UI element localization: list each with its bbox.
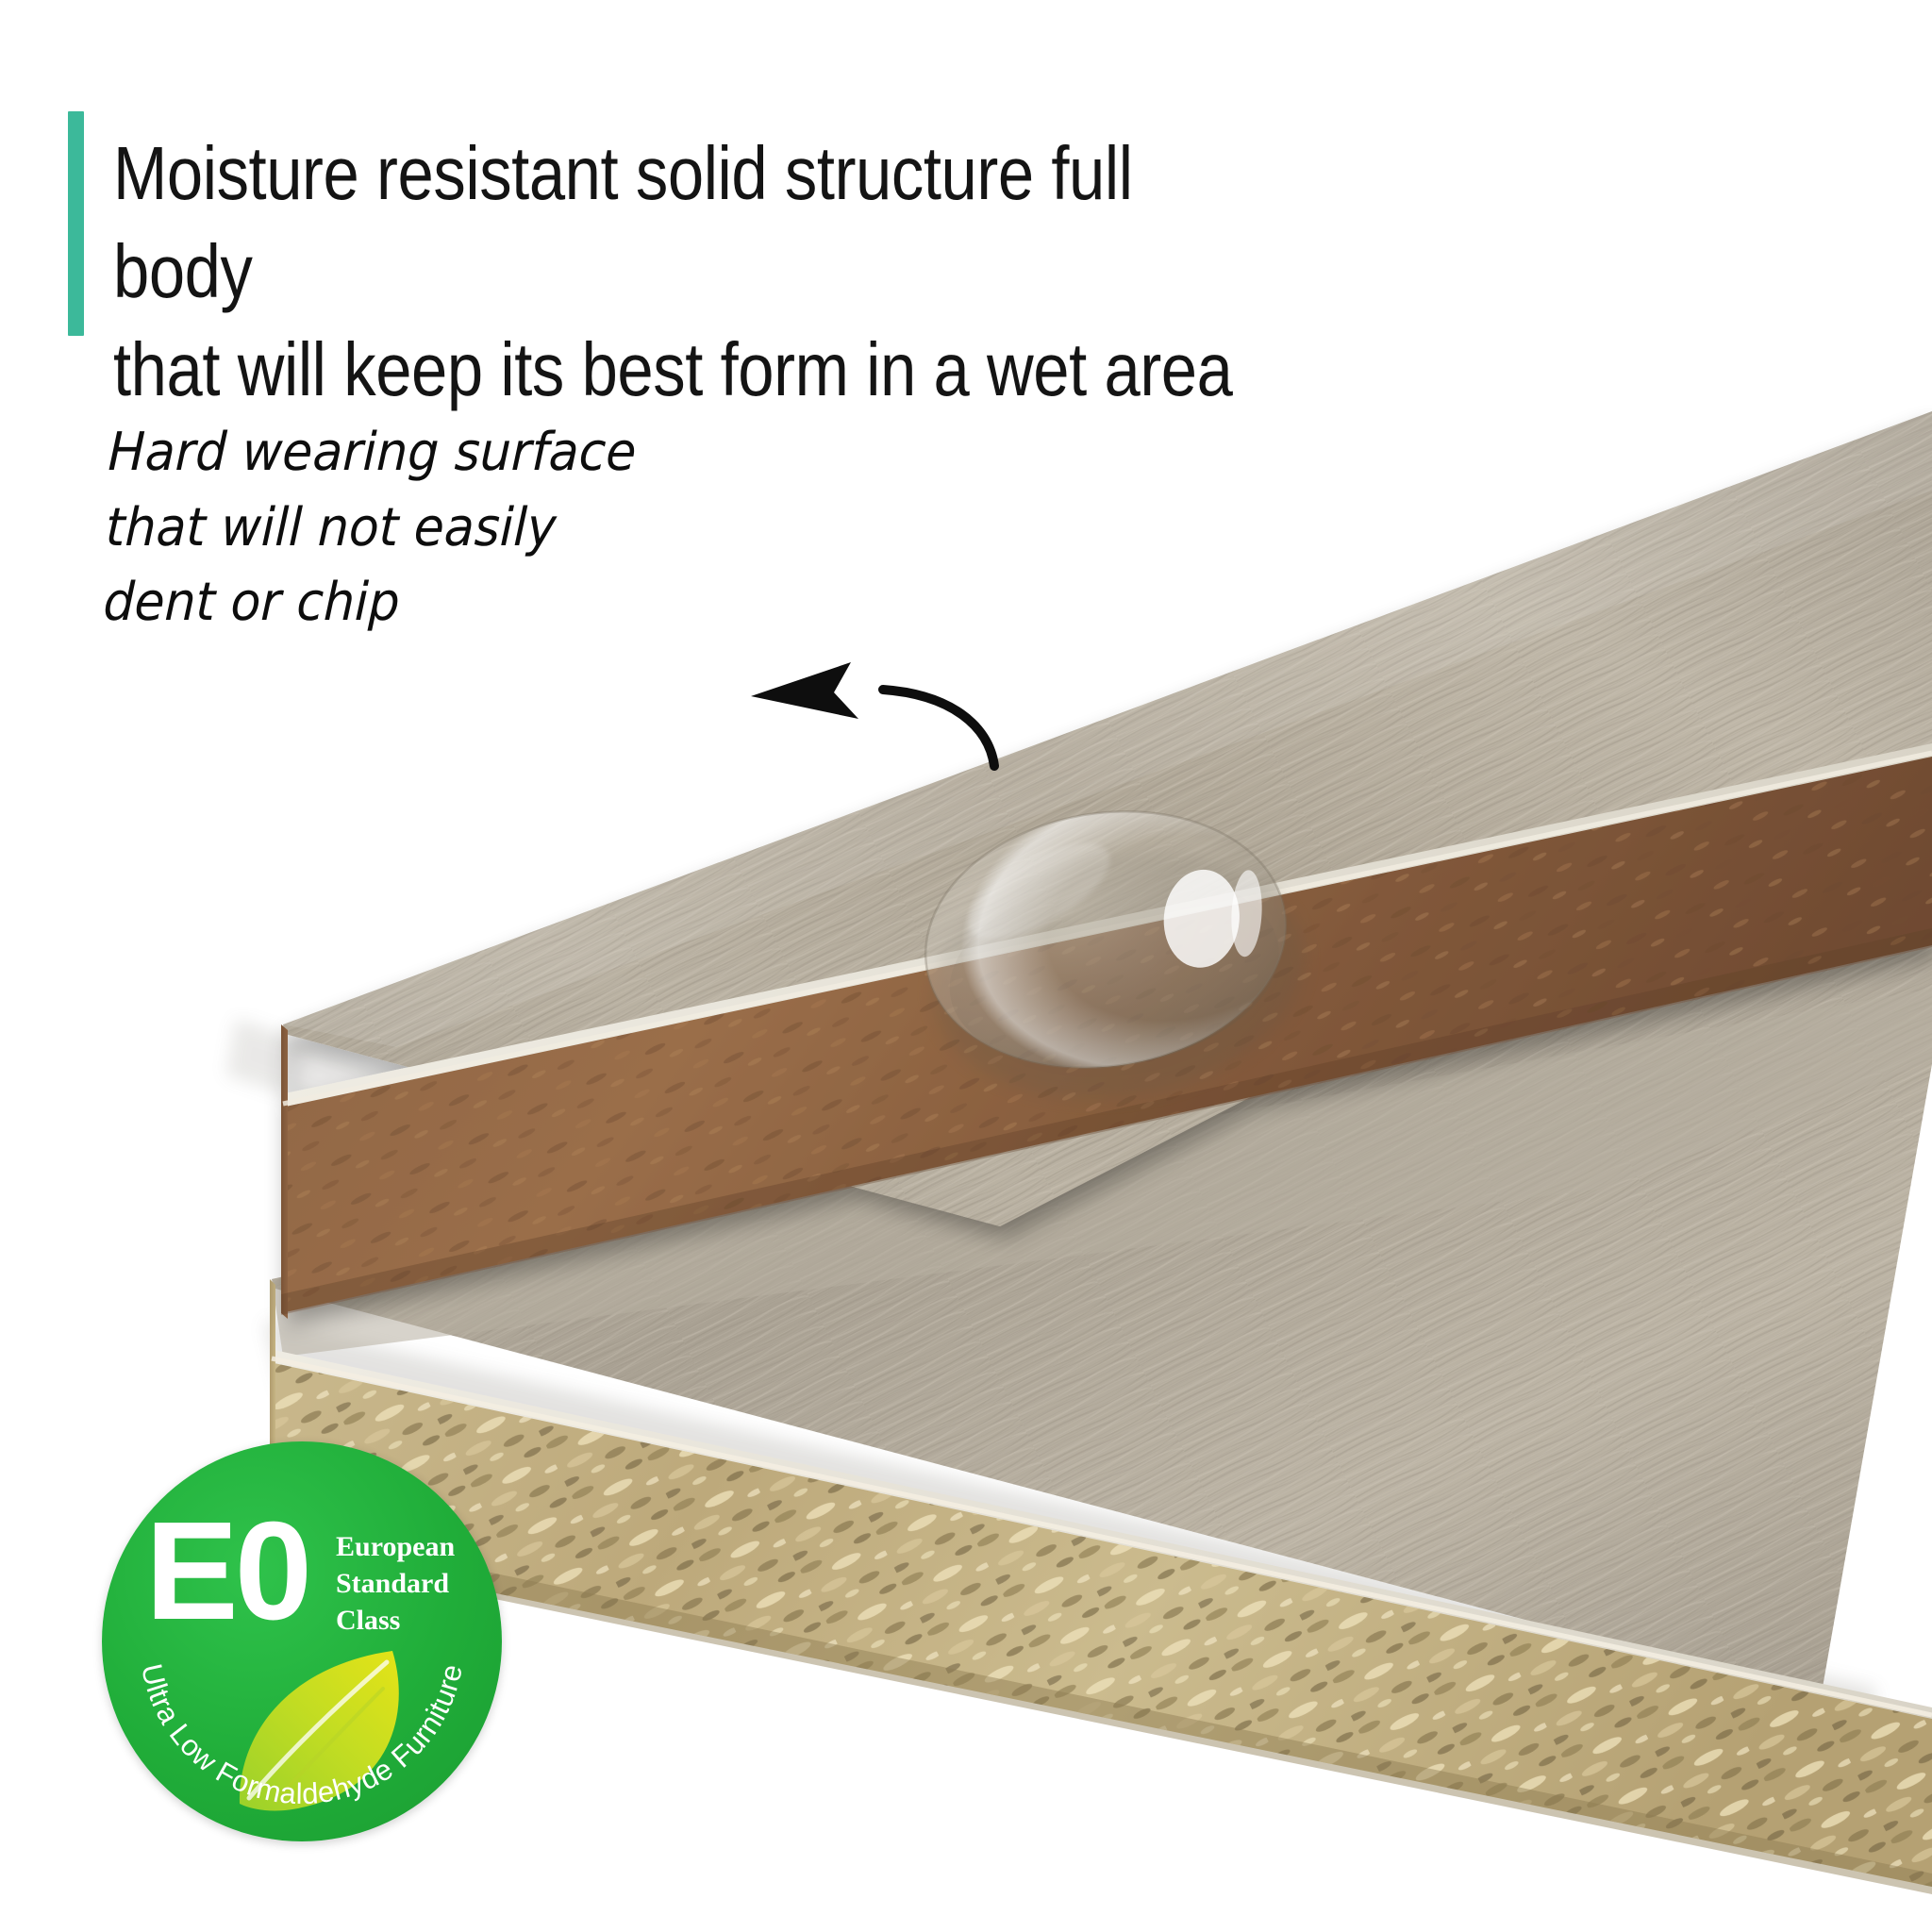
- infographic-canvas: Moisture resistant solid structure full …: [0, 0, 1932, 1932]
- annotation-hard-wearing-surface: Hard wearing surface that will not easil…: [102, 415, 776, 641]
- badge-arc-text: Ultra Low Formaldehyde Furniture: [102, 1441, 502, 1841]
- e0-certification-badge: E0 European Standard Class Ultra Low For…: [102, 1441, 502, 1841]
- page-title: Moisture resistant solid structure full …: [113, 125, 1249, 419]
- curved-arrow-icon: [717, 651, 1057, 821]
- teal-accent-bar: [68, 111, 84, 336]
- svg-text:Ultra Low Formaldehyde Furnitu: Ultra Low Formaldehyde Furniture: [135, 1661, 469, 1811]
- badge-arc-text-path: Ultra Low Formaldehyde Furniture: [135, 1661, 469, 1811]
